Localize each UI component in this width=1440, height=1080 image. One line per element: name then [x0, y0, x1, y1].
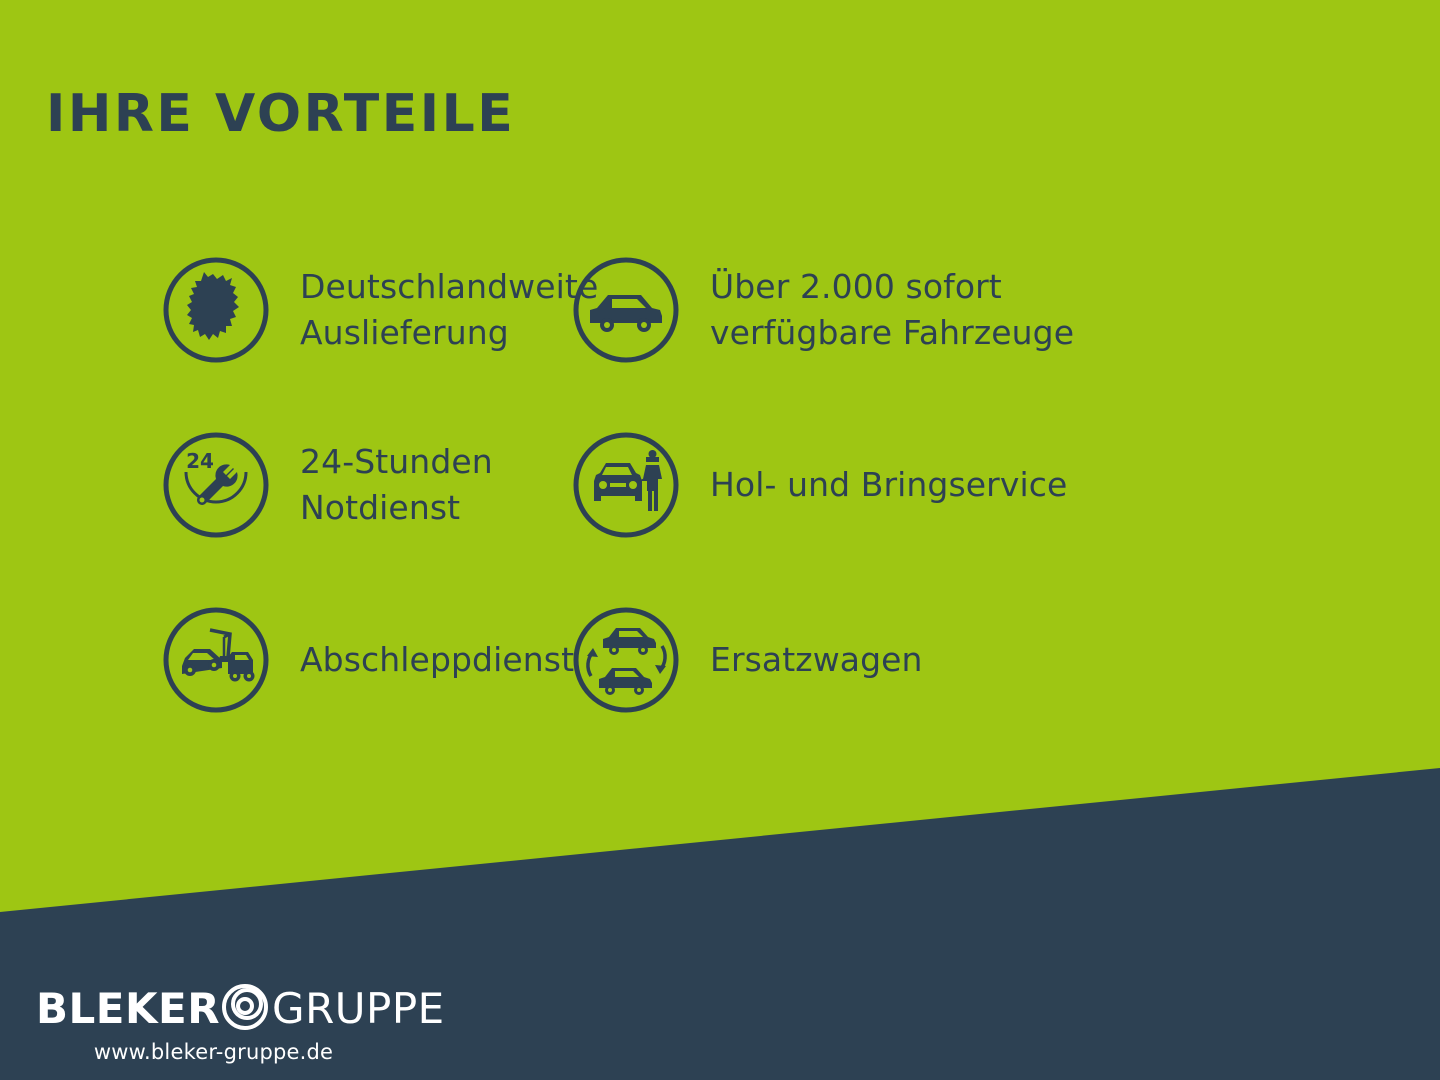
benefit-label: Hol- und Bringservice [710, 462, 1067, 508]
logo-website-url[interactable]: www.bleker-gruppe.de [36, 1040, 391, 1064]
benefit-item-24-stunden-notdienst[interactable]: 24 24-Stunden Notdienst [0, 397, 565, 572]
tow-truck-icon [160, 604, 272, 716]
company-logo[interactable]: BLEKER GRUPPE www.bleker-gruppe.de [36, 984, 445, 1064]
benefit-label-line1: Über 2.000 sofort [710, 267, 1002, 306]
benefit-label-line1: Abschleppdienst [300, 640, 574, 679]
benefit-item-hol-und-bringservice[interactable]: Hol- und Bringservice [565, 397, 1205, 572]
benefit-label-line2: verfügbare Fahrzeuge [710, 310, 1074, 356]
benefit-label: Abschleppdienst [300, 637, 574, 683]
logo-text-bleker: BLEKER [36, 988, 220, 1030]
benefit-item-verfuegbare-fahrzeuge[interactable]: Über 2.000 sofort verfügbare Fahrzeuge [565, 222, 1205, 397]
page-title: IHRE VORTEILE [46, 88, 515, 140]
benefits-grid: Deutschlandweite Auslieferung [0, 222, 1440, 747]
logo-text-gruppe: GRUPPE [272, 988, 445, 1030]
benefits-row: Abschleppdienst [0, 572, 1440, 747]
benefit-label-line1: Ersatzwagen [710, 640, 923, 679]
benefit-item-ersatzwagen[interactable]: Ersatzwagen [565, 572, 1205, 747]
benefits-row: 24 24-Stunden Notdienst [0, 397, 1440, 572]
spiral-circles-logo-icon [214, 974, 276, 1036]
slide-ihre-vorteile: IHRE VORTEILE Deutschlandweite Ausliefer… [0, 0, 1440, 1080]
benefit-label: Ersatzwagen [710, 637, 923, 683]
24-hour-wrench-icon: 24 [160, 429, 272, 541]
benefit-label-line1: Deutschlandweite [300, 267, 598, 306]
benefit-label: Deutschlandweite Auslieferung [300, 264, 598, 355]
benefit-item-abschleppdienst[interactable]: Abschleppdienst [0, 572, 565, 747]
benefit-label-line2: Notdienst [300, 485, 493, 531]
benefit-label-line1: 24-Stunden [300, 442, 493, 481]
benefit-item-deutschlandweite-auslieferung[interactable]: Deutschlandweite Auslieferung [0, 222, 565, 397]
logo-wordmark: BLEKER GRUPPE [36, 984, 445, 1034]
car-side-icon [570, 254, 682, 366]
replacement-car-icon [570, 604, 682, 716]
benefit-label-line1: Hol- und Bringservice [710, 465, 1067, 504]
car-with-person-icon [570, 429, 682, 541]
svg-text:24: 24 [186, 449, 214, 473]
benefits-row: Deutschlandweite Auslieferung [0, 222, 1440, 397]
benefit-label-line2: Auslieferung [300, 310, 598, 356]
benefit-label: 24-Stunden Notdienst [300, 439, 493, 530]
benefit-label: Über 2.000 sofort verfügbare Fahrzeuge [710, 264, 1074, 355]
germany-map-icon [160, 254, 272, 366]
